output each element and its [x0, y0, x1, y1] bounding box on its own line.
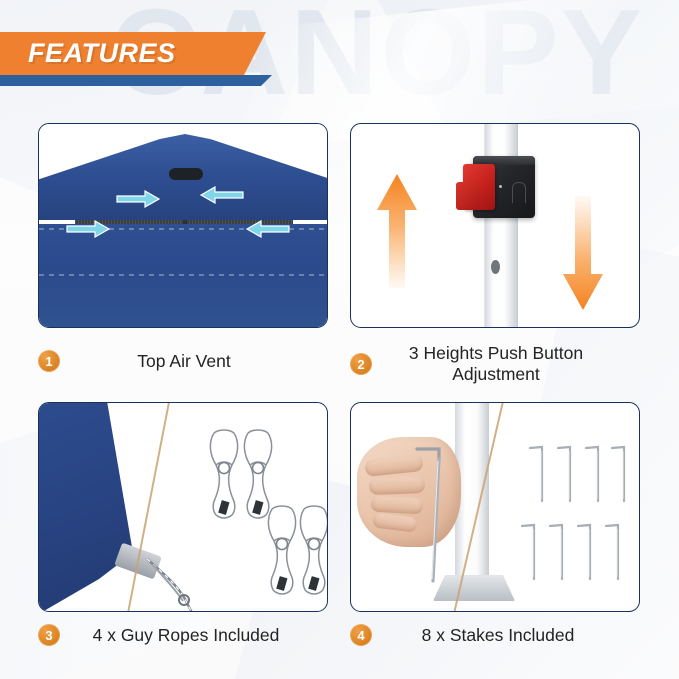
- feature-image-3: [38, 402, 328, 612]
- height-arrow-down-icon: [561, 194, 605, 312]
- feature-caption-2: 2 3 Heights Push Button Adjustment: [350, 343, 640, 385]
- page-title: FEATURES: [0, 38, 176, 69]
- airflow-arrow-right-inner: [199, 186, 245, 204]
- attached-guy-rope: [143, 555, 217, 612]
- airflow-arrow-left-inner: [115, 190, 161, 208]
- feature-caption-1: 1 Top Air Vent: [38, 350, 328, 372]
- feature-image-2: [350, 123, 640, 328]
- canopy-skirt: [38, 224, 328, 328]
- red-push-button-face: [456, 182, 480, 210]
- feature-card-3[interactable]: [38, 402, 328, 612]
- housing-slot: [512, 182, 526, 203]
- stake-in-hand: [409, 439, 453, 589]
- guy-rope-coil-3: [265, 501, 299, 597]
- feature-caption-text-1: Top Air Vent: [60, 351, 328, 372]
- banner-orange-shape: FEATURES: [0, 32, 266, 75]
- housing-dot: [499, 185, 502, 188]
- guy-rope-coil-4: [297, 501, 328, 597]
- feature-badge-4: 4: [350, 624, 372, 646]
- airflow-arrow-right-outer: [245, 220, 291, 238]
- vent-hub: [169, 168, 203, 180]
- feature-image-4: [350, 402, 640, 612]
- feature-caption-4: 4 8 x Stakes Included: [350, 624, 640, 646]
- height-arrow-up-icon: [375, 172, 419, 290]
- feature-caption-text-4: 8 x Stakes Included: [372, 625, 640, 646]
- guy-rope-coil-1: [207, 425, 241, 521]
- canopy-pole: [484, 123, 518, 328]
- feature-badge-3: 3: [38, 624, 60, 646]
- stake-6: [547, 521, 569, 583]
- feature-card-4[interactable]: [350, 402, 640, 612]
- stake-2: [555, 443, 577, 505]
- feature-caption-text-2: 3 Heights Push Button Adjustment: [372, 343, 640, 385]
- stake-1: [527, 443, 549, 505]
- features-banner: FEATURES: [0, 32, 266, 75]
- stake-4: [609, 443, 631, 505]
- feature-card-1[interactable]: [38, 123, 328, 328]
- airflow-arrow-left-outer: [65, 220, 111, 238]
- pole-adjustment-hole: [491, 260, 500, 274]
- feature-caption-text-3: 4 x Guy Ropes Included: [60, 625, 328, 646]
- stake-7: [575, 521, 597, 583]
- feature-grid: 1 Top Air Vent: [0, 0, 679, 679]
- stake-3: [583, 443, 605, 505]
- banner-underline: [0, 75, 272, 86]
- feature-caption-text-2-line2: Adjustment: [372, 364, 620, 385]
- stake-8: [603, 521, 625, 583]
- feature-caption-text-2-line1: 3 Heights Push Button: [372, 343, 620, 364]
- feature-badge-1: 1: [38, 350, 60, 372]
- feature-badge-2: 2: [350, 353, 372, 375]
- stake-5: [519, 521, 541, 583]
- feature-card-2[interactable]: [350, 123, 640, 328]
- feature-image-1: [38, 123, 328, 328]
- feature-caption-3: 3 4 x Guy Ropes Included: [38, 624, 328, 646]
- canopy-corner-fabric: [38, 402, 157, 612]
- canopy-seam-2: [39, 274, 327, 276]
